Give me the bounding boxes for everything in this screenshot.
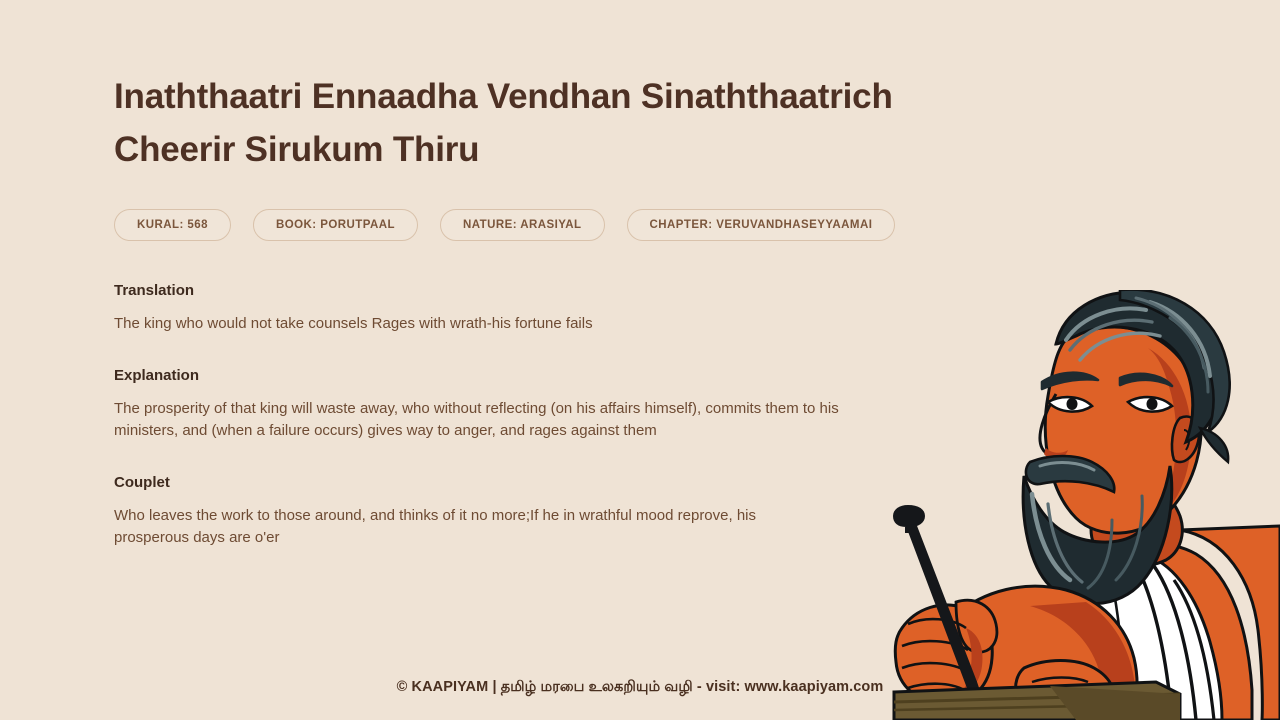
pupil-front [1067,398,1078,410]
translation-heading: Translation [114,282,904,299]
finger-line [902,663,968,672]
ear-inner [1184,430,1189,450]
kural-card-page: Inaththaatri Ennaadha Vendhan Sinaththaa… [0,0,1280,720]
hair-strand [1066,308,1146,340]
kural-content: Inaththaatri Ennaadha Vendhan Sinaththaa… [114,70,904,549]
chip-book[interactable]: BOOK: PORUTPAAL [253,209,418,241]
eye-front [1048,397,1092,412]
hair-strand [1136,298,1204,368]
page-title: Inaththaatri Ennaadha Vendhan Sinaththaa… [114,70,904,176]
hair-strand [1150,302,1210,376]
ear [1172,417,1199,462]
beard-highlight [1116,496,1142,580]
thiruvalluvar-writing-illustration [880,290,1280,720]
stylus-shaft [907,526,976,688]
hair-strand [1080,333,1160,360]
face [1045,326,1201,533]
garment-fold [1078,620,1092,720]
hair-strand [1070,320,1152,350]
beard-highlight [1048,504,1082,582]
eyebrow-back [1120,374,1172,386]
couplet-body: Who leaves the work to those around, and… [114,505,814,549]
beard [1023,466,1172,604]
palm-leaf-edge [894,704,1180,710]
nose [1040,394,1064,456]
finger-line [902,641,968,650]
chip-nature[interactable]: NATURE: ARASIYAL [440,209,605,241]
neck [1091,478,1182,566]
explanation-body: The prosperity of that king will waste a… [114,398,862,442]
explanation-heading: Explanation [114,367,904,384]
chip-kural[interactable]: KURAL: 568 [114,209,231,241]
section-explanation: Explanation The prosperity of that king … [114,367,904,442]
moustache-highlight [1040,463,1094,470]
section-translation: Translation The king who would not take … [114,282,904,335]
hair-nape [1200,428,1228,462]
metadata-chip-row: KURAL: 568 BOOK: PORUTPAAL NATURE: ARASI… [114,209,904,241]
hair [1056,292,1221,442]
thumb [956,600,997,652]
hair-strand [1170,318,1208,392]
beard-highlight [1032,494,1070,580]
chip-chapter[interactable]: CHAPTER: VERUVANDHASEYYAAMAI [627,209,896,241]
moustache [1026,456,1114,492]
forearm-shadow [1030,602,1135,720]
couplet-heading: Couplet [114,474,904,491]
hair-bun [1120,290,1230,432]
section-couplet: Couplet Who leaves the work to those aro… [114,474,904,549]
finger-line [908,619,966,628]
garment-fold [1174,580,1214,720]
footer-credit: © KAAPIYAM | தமிழ் மரபை உலகறியும் வழி - … [0,679,1280,697]
translation-body: The king who would not take counsels Rag… [114,313,866,335]
eye-back [1128,397,1172,412]
near-forearm [939,586,1137,720]
eyebrow-front [1042,373,1098,389]
pupil-back [1147,398,1158,410]
beard-highlight [1088,520,1112,588]
face-shadow [1148,348,1191,518]
nostril [1044,448,1068,460]
finger-line [1032,705,1088,708]
